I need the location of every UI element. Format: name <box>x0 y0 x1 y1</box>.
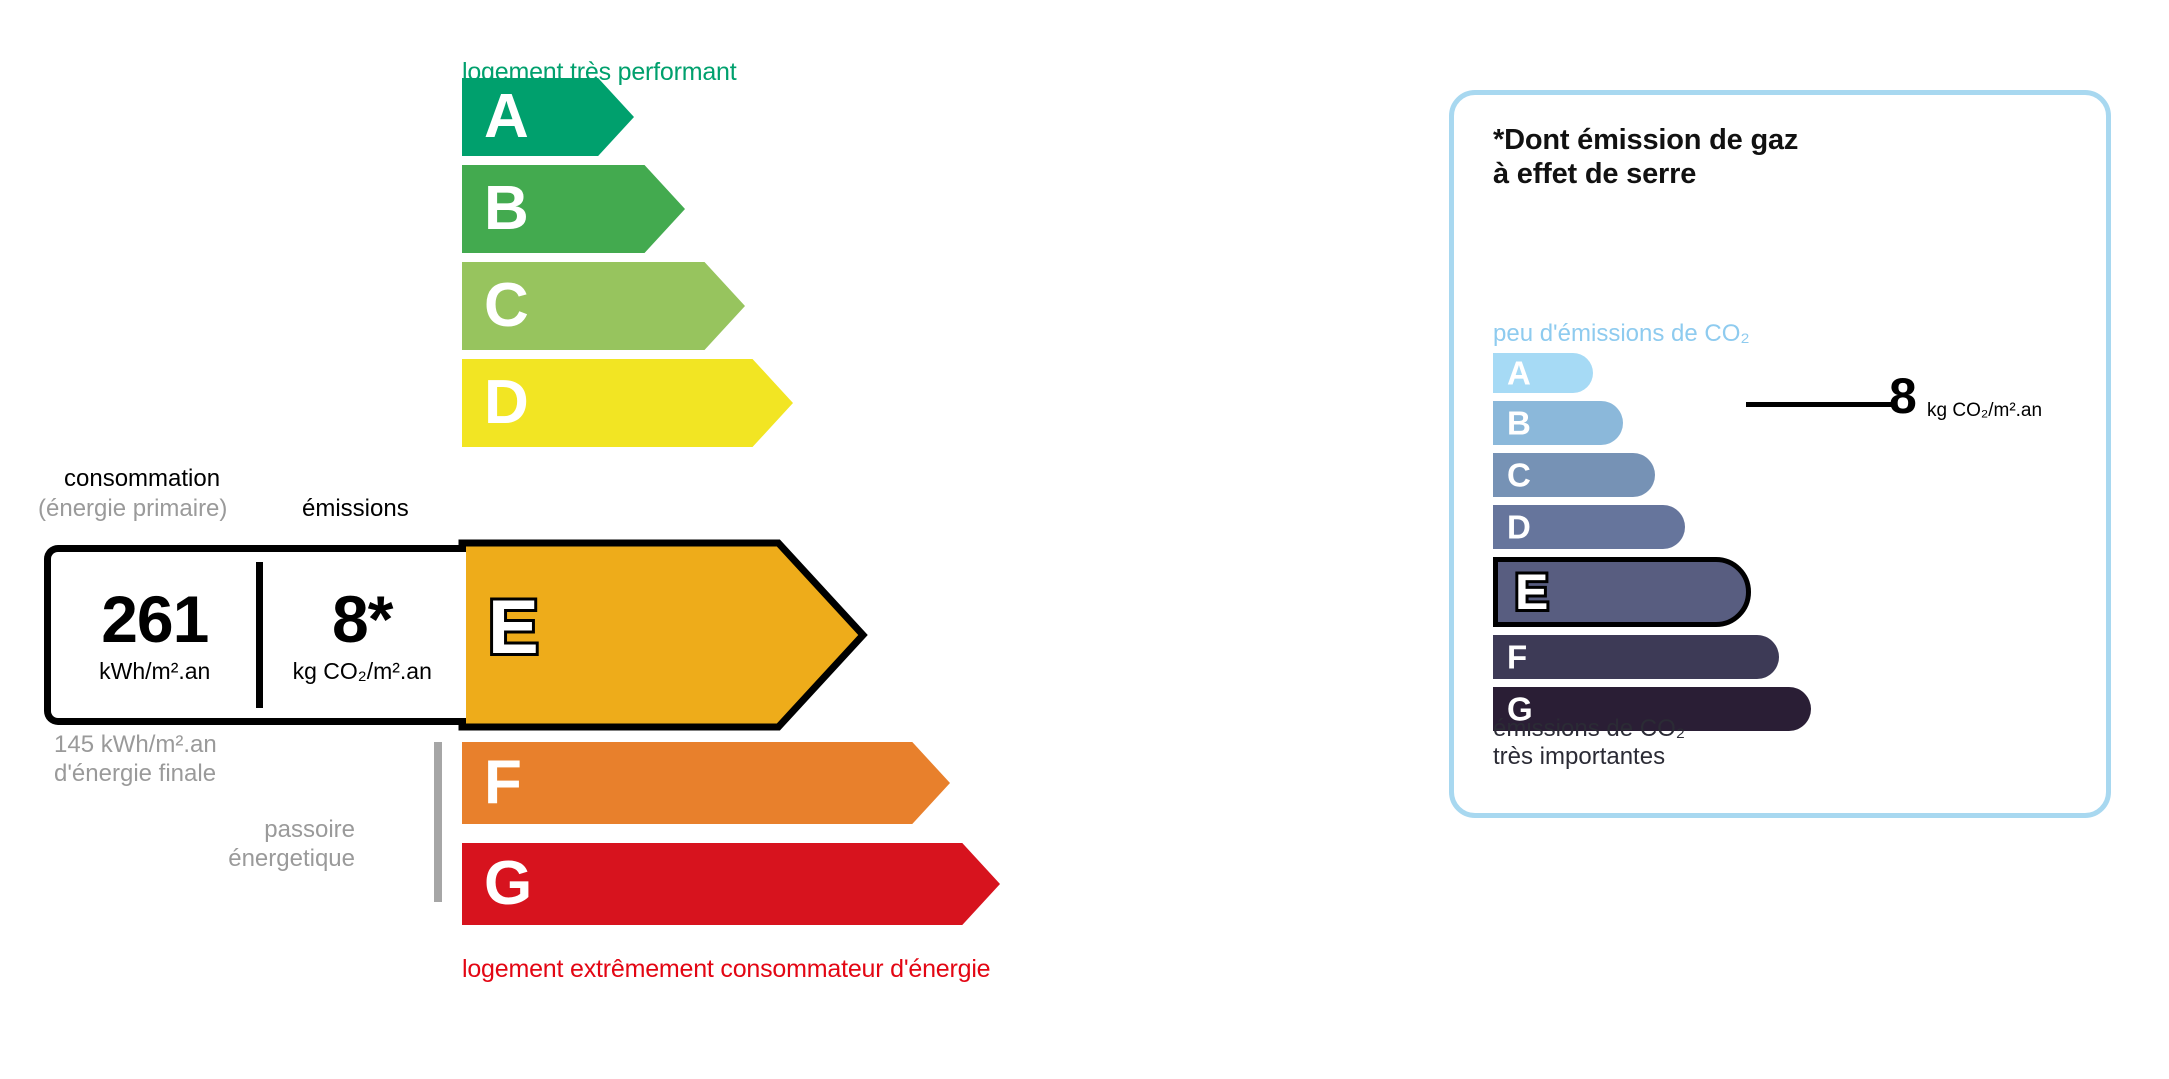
co2-class-letter-e: E <box>1515 567 1548 617</box>
consumption-value: 261 <box>101 586 208 652</box>
co2-leader-line <box>1746 402 1896 407</box>
co2-class-d: D <box>1493 505 1685 549</box>
energy-arrow-shape-e: E <box>462 536 863 720</box>
co2-class-f: F <box>1493 635 1779 679</box>
co2-caption-top: peu d'émissions de CO₂ <box>1493 320 1750 348</box>
co2-class-letter-b: B <box>1507 407 1531 440</box>
energy-class-letter-d: D <box>484 372 529 434</box>
energy-scale-panel: logement très performant ABCDEFG logemen… <box>0 0 1400 1079</box>
passoire-energetique-note: passoire énergetique <box>205 815 355 874</box>
co2-class-b: B <box>1493 401 1623 445</box>
consumption-unit: kWh/m².an <box>99 658 210 685</box>
energy-class-letter-f: F <box>484 752 522 814</box>
co2-class-letter-a: A <box>1507 357 1531 390</box>
energy-class-a: A <box>462 78 634 156</box>
co2-value-unit: kg CO₂/m².an <box>1927 400 2042 422</box>
energy-class-letter-b: B <box>484 178 529 240</box>
co2-bar-shape-b: B <box>1493 401 1623 445</box>
energy-class-letter-c: C <box>484 275 529 337</box>
energy-class-e: E <box>462 543 863 727</box>
co2-class-letter-d: D <box>1507 511 1531 544</box>
co2-class-c: C <box>1493 453 1655 497</box>
energy-class-letter-a: A <box>484 86 529 148</box>
co2-bar-shape-f: F <box>1493 635 1779 679</box>
co2-bar-shape-c: C <box>1493 453 1655 497</box>
co2-panel-title: *Dont émission de gaz à effet de serre <box>1493 124 1798 192</box>
co2-class-letter-f: F <box>1507 641 1527 674</box>
co2-class-e: E <box>1493 557 1751 627</box>
energy-class-f: F <box>462 742 950 824</box>
co2-bar-shape-e: E <box>1493 557 1751 627</box>
consumption-value-cell: 261 kWh/m².an <box>51 552 259 718</box>
consumption-label: consommation <box>64 465 220 493</box>
energy-scale-caption-bottom: logement extrêmement consommateur d'éner… <box>462 955 990 984</box>
energy-arrow-shape-b: B <box>462 165 685 253</box>
co2-class-letter-c: C <box>1507 459 1531 492</box>
emissions-value-cell: 8* kg CO₂/m².an <box>259 552 467 718</box>
co2-caption-bottom: émissions de CO₂ très importantes <box>1493 715 1685 772</box>
co2-bar-shape-d: D <box>1493 505 1685 549</box>
emissions-label: émissions <box>302 495 409 523</box>
co2-panel: *Dont émission de gaz à effet de serre p… <box>1449 90 2111 818</box>
dpe-diagram: logement très performant ABCDEFG logemen… <box>0 0 2169 1079</box>
final-energy-note: 145 kWh/m².an d'énergie finale <box>54 730 217 789</box>
energy-class-b: B <box>462 165 685 253</box>
energy-class-d: D <box>462 359 793 447</box>
co2-bar-shape-a: A <box>1493 353 1593 393</box>
energy-arrow-shape-a: A <box>462 78 634 156</box>
energy-class-letter-e: E <box>488 590 539 666</box>
energy-arrow-shape-g: G <box>462 843 1000 925</box>
value-box: 261 kWh/m².an 8* kg CO₂/m².an <box>44 545 466 725</box>
emissions-value: 8* <box>332 586 392 652</box>
energy-arrow-shape-d: D <box>462 359 793 447</box>
co2-class-a: A <box>1493 353 1593 393</box>
passoire-divider <box>434 742 442 902</box>
co2-value: 8 <box>1889 371 1917 421</box>
energy-class-g: G <box>462 843 1000 925</box>
energy-arrow-shape-f: F <box>462 742 950 824</box>
energy-arrow-shape-c: C <box>462 262 745 350</box>
emissions-unit: kg CO₂/m².an <box>293 658 432 685</box>
primary-energy-sublabel: (énergie primaire) <box>38 495 227 523</box>
energy-class-c: C <box>462 262 745 350</box>
co2-bar-list: ABCDE8kg CO₂/m².anFG <box>1493 353 2093 713</box>
energy-class-letter-g: G <box>484 853 532 915</box>
